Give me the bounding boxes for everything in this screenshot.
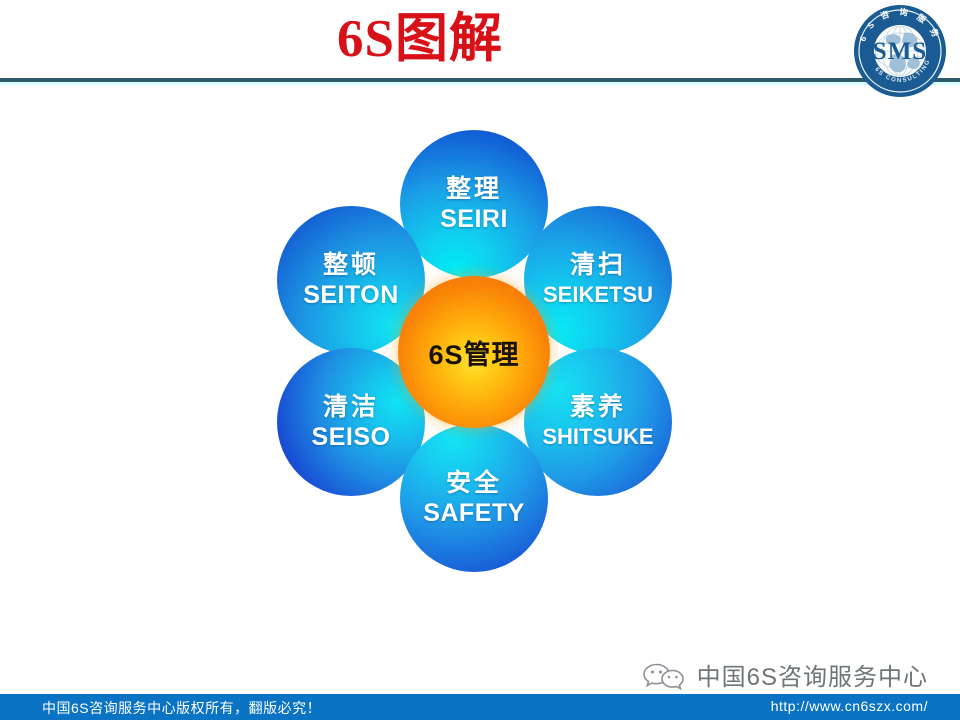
wechat-brand: 中国6S咨询服务中心: [641, 657, 928, 692]
petal-shitsuke-en: SHITSUKE: [542, 422, 653, 452]
petal-seiri-cn: 整理: [446, 174, 502, 204]
petal-safety-en: SAFETY: [423, 498, 525, 528]
footer-copyright: 中国6S咨询服务中心版权所有，翻版必究！: [42, 698, 321, 718]
petal-seiso-en: SEISO: [312, 422, 391, 452]
petal-seiri-en: SEIRI: [440, 204, 508, 234]
slide-canvas: 6S图解: [0, 0, 960, 720]
wechat-account-name: 中国6S咨询服务中心: [697, 657, 928, 692]
petal-seiso-cn: 清洁: [323, 392, 379, 422]
diagram-core[interactable]: 6S管理: [398, 276, 550, 428]
sms-logo: 6 S 咨 询 服 务 中 心 6S CONSULTING SMS: [852, 3, 948, 99]
petal-seiton-en: SEITON: [303, 280, 399, 310]
header-divider-glow: [0, 82, 960, 85]
petal-seiketsu-en: SEIKETSU: [543, 280, 653, 310]
footer-bar: 中国6S咨询服务中心版权所有，翻版必究！ http://www.cn6szx.c…: [0, 694, 960, 720]
footer-url[interactable]: http://www.cn6szx.com/: [771, 698, 928, 714]
petal-seiton-cn: 整顿: [323, 250, 379, 280]
page-title: 6S图解: [0, 8, 840, 70]
wechat-icon: [641, 660, 687, 690]
petal-seiketsu-cn: 清扫: [570, 250, 626, 280]
petal-safety-cn: 安全: [446, 468, 502, 498]
slide-header: 6S图解: [0, 0, 960, 84]
6s-flower-diagram: 整理 SEIRI 整顿 SEITON 清扫 SEIKETSU 清洁 SEISO …: [250, 128, 698, 576]
petal-shitsuke-cn: 素养: [570, 392, 626, 422]
diagram-core-label: 6S管理: [428, 333, 519, 372]
svg-text:SMS: SMS: [873, 38, 927, 65]
petal-seiri[interactable]: 整理 SEIRI: [400, 130, 548, 278]
petal-safety[interactable]: 安全 SAFETY: [400, 424, 548, 572]
